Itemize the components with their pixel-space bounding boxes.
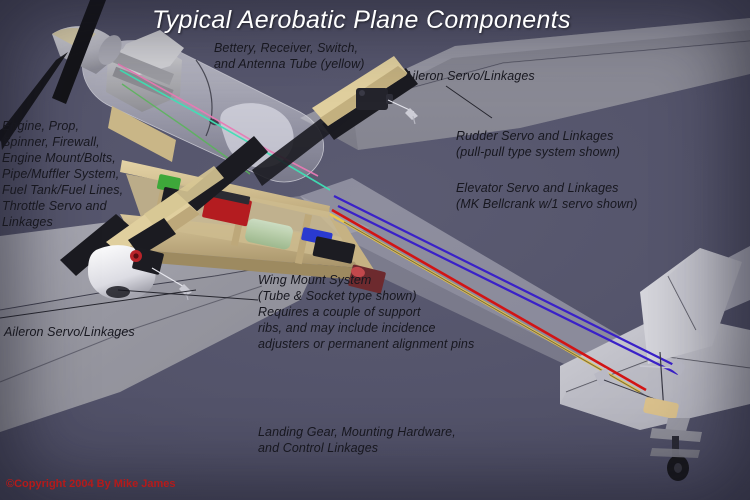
label-wing-mount-system: Wing Mount System (Tube & Socket type sh…: [258, 272, 474, 352]
label-elevator-servo: Elevator Servo and Linkages (MK Bellcran…: [456, 180, 638, 212]
label-engine-group: Engine, Prop, Spinner, Firewall, Engine …: [2, 118, 123, 230]
label-rudder-servo: Rudder Servo and Linkages (pull-pull typ…: [456, 128, 620, 160]
copyright-notice: ©Copyright 2004 By Mike James: [6, 478, 176, 490]
label-landing-gear: Landing Gear, Mounting Hardware, and Con…: [258, 424, 456, 456]
page-title: Typical Aerobatic Plane Components: [152, 6, 571, 35]
label-battery-receiver: Bettery, Receiver, Switch, and Antenna T…: [214, 40, 365, 72]
label-aileron-servo-bottom: Aileron Servo/Linkages: [4, 324, 135, 340]
diagram-canvas: Typical Aerobatic Plane Components Bette…: [0, 0, 750, 500]
label-aileron-servo-top: Aileron Servo/Linkages: [404, 68, 535, 84]
